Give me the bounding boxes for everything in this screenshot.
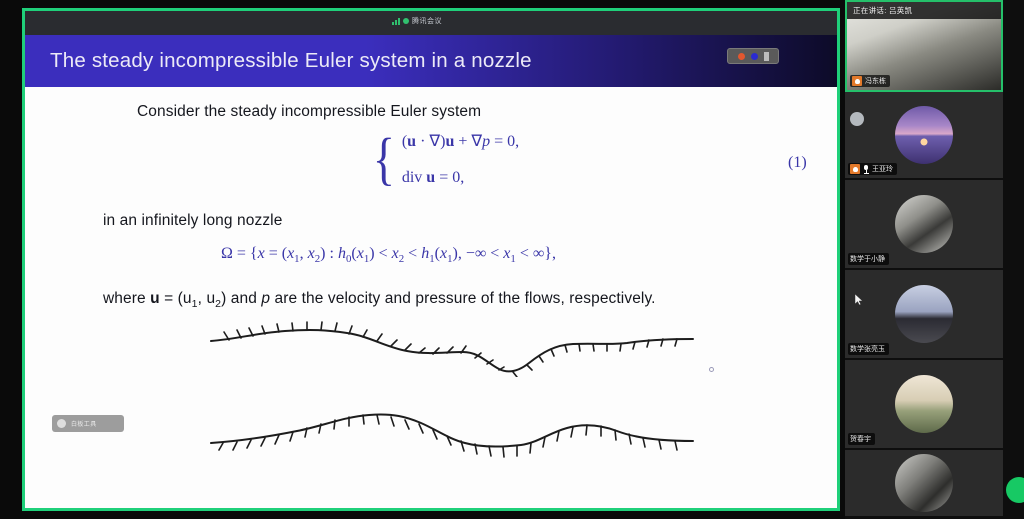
slide-title: The steady incompressible Euler system i…: [25, 49, 532, 73]
annotation-toolbar-label: 白板工具: [71, 419, 97, 428]
avatar: [895, 454, 953, 512]
participant-tile-0[interactable]: 正在讲话: 吕英凯 冯东栋: [845, 0, 1003, 92]
screen-share-stage: 腾讯会议 The steady incompressible Euler sys…: [0, 0, 845, 519]
nozzle-upper-wall-drawing: [207, 319, 697, 377]
participant-name-chip: 冯东栋: [850, 75, 890, 87]
panel-glyph-icon: [764, 52, 769, 61]
host-badge-icon: [850, 164, 860, 174]
connection-dot-icon: [403, 18, 409, 24]
annotation-toolbar-pill[interactable]: 白板工具: [52, 415, 124, 432]
avatar: [895, 106, 953, 164]
equation-row-momentum: (u · ∇)u + ∇p = 0,: [402, 131, 519, 151]
nozzle-lower-wall-drawing: [207, 403, 697, 463]
presenter-toolbar-widget[interactable]: [727, 48, 779, 64]
avatar: [895, 375, 953, 433]
slide-body: Consider the steady incompressible Euler…: [25, 87, 837, 508]
participant-tile-1[interactable]: 王亚玲: [845, 92, 1003, 180]
euler-system-equation: { (u · ∇)u + ∇p = 0, div u = 0,: [370, 131, 519, 187]
participant-name: 贺春宇: [850, 434, 871, 444]
join-audio-fab[interactable]: [1006, 477, 1024, 503]
beamer-slide: The steady incompressible Euler system i…: [25, 35, 837, 508]
participant-name-chip: 数学于小静: [848, 253, 889, 265]
shared-application-window: 腾讯会议 The steady incompressible Euler sys…: [22, 8, 840, 511]
shared-window-topbar: 腾讯会议: [22, 8, 840, 35]
participant-name-chip: 贺春宇: [848, 433, 875, 445]
omega-domain-equation: Ω = {x = (x1, x2) : h0(x1) < x2 < h1(x1)…: [221, 245, 556, 265]
slide-title-bar: The steady incompressible Euler system i…: [25, 35, 837, 87]
equation-number: (1): [788, 154, 807, 172]
host-badge-icon: [852, 76, 862, 86]
left-brace-glyph: {: [373, 133, 395, 185]
avatar: [895, 195, 953, 253]
mouse-cursor-icon: [855, 294, 864, 305]
nozzle-text: in an infinitely long nozzle: [103, 212, 282, 230]
equation-row-divergence: div u = 0,: [402, 169, 519, 187]
participant-name: 数学于小静: [850, 254, 885, 264]
where-text: where u = (u1, u2) and p are the velocit…: [103, 290, 656, 310]
participant-tile-2[interactable]: 数学于小静: [845, 180, 1003, 270]
meeting-status-label: 腾讯会议: [412, 16, 442, 26]
participant-name-chip: 数学张亮玉: [848, 343, 889, 355]
participant-tile-5[interactable]: [845, 450, 1003, 518]
panel-collapse-toggle-icon[interactable]: [850, 112, 864, 126]
active-speaker-banner: 正在讲话: 吕英凯: [847, 2, 1001, 19]
participant-name: 王亚玲: [872, 164, 893, 174]
participant-sidebar[interactable]: 正在讲话: 吕英凯 冯东栋 王亚玲 数学于小静: [845, 0, 1024, 519]
participant-tile-3[interactable]: 数学张亮玉: [845, 270, 1003, 360]
annotation-dot: [709, 367, 714, 372]
signal-strength-icon: [392, 18, 400, 25]
annotation-tool-icon[interactable]: [57, 419, 66, 428]
participant-name-chip: 王亚玲: [848, 163, 897, 175]
participant-tile-4[interactable]: 贺春宇: [845, 360, 1003, 450]
meeting-window: 腾讯会议 The steady incompressible Euler sys…: [0, 0, 1024, 519]
avatar: [895, 285, 953, 343]
mode-dot-icon: [751, 53, 758, 60]
meeting-status-pill: 腾讯会议: [392, 16, 442, 26]
intro-text: Consider the steady incompressible Euler…: [137, 103, 481, 121]
participant-name: 冯东栋: [865, 76, 886, 86]
mic-muted-icon: [863, 165, 869, 174]
active-speaker-label: 正在讲话: 吕英凯: [853, 5, 912, 16]
record-dot-icon: [738, 53, 745, 60]
participant-name: 数学张亮玉: [850, 344, 885, 354]
